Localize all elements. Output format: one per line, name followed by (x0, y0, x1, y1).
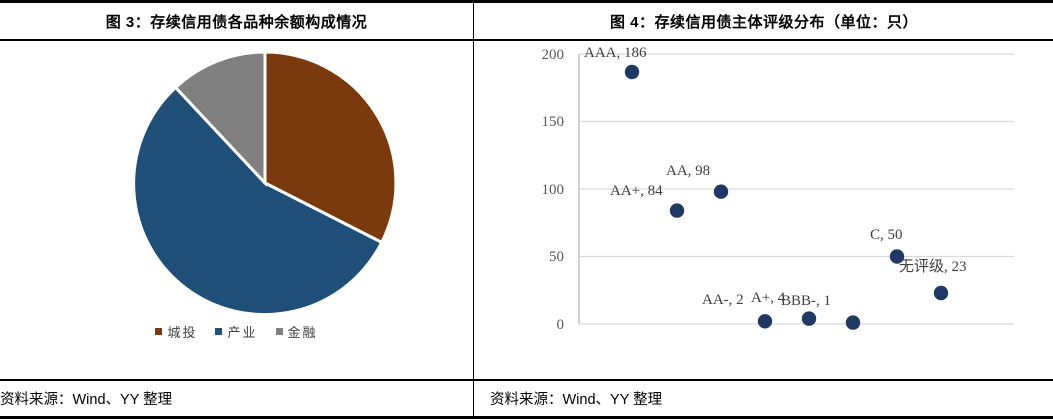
legend-swatch-chengtou (155, 328, 162, 335)
scatter-points (625, 65, 948, 330)
point-AA-plus (670, 204, 684, 218)
figure-body-row: 城投 产业 金融 (0, 40, 1053, 380)
point-no-rating (934, 286, 948, 300)
figure-source-row: 资料来源：Wind、YY 整理 资料来源：Wind、YY 整理 (0, 380, 1053, 418)
right-source-note: 资料来源：Wind、YY 整理 (474, 380, 1053, 418)
y-tick-100: 100 (512, 183, 564, 198)
left-source-note: 资料来源：Wind、YY 整理 (0, 380, 474, 418)
scatter-svg (474, 41, 1053, 359)
legend-label-chengtou: 城投 (167, 322, 197, 341)
data-label-AA-minus: AA-, 2 (702, 293, 744, 308)
data-label-no-rating: 无评级, 23 (899, 260, 967, 275)
pie-chart: 城投 产业 金融 (0, 41, 473, 379)
data-label-C: C, 50 (870, 228, 903, 243)
legend-swatch-jinrong (276, 328, 283, 335)
pie-svg (121, 47, 409, 319)
legend-item-chengtou[interactable]: 城投 (155, 322, 197, 341)
figure-table: 图 3：存续信用债各品种余额构成情况 图 4：存续信用债主体评级分布（单位：只） (0, 0, 1053, 419)
y-tick-150: 150 (512, 115, 564, 130)
figure-title-row: 图 3：存续信用债各品种余额构成情况 图 4：存续信用债主体评级分布（单位：只） (0, 2, 1053, 41)
y-tick-200: 200 (512, 48, 564, 63)
left-figure-title: 图 3：存续信用债各品种余额构成情况 (0, 2, 474, 41)
legend-swatch-chanye (215, 328, 222, 335)
legend-item-chanye[interactable]: 产业 (215, 322, 257, 341)
point-AA-minus (758, 314, 772, 328)
right-figure-body: 200 150 100 50 0 AAA, 186 AA+, 84 AA, 98… (474, 40, 1053, 380)
figure-pair-container: 图 3：存续信用债各品种余额构成情况 图 4：存续信用债主体评级分布（单位：只） (0, 0, 1053, 419)
data-label-AA-plus: AA+, 84 (610, 184, 663, 199)
data-label-AA: AA, 98 (666, 164, 710, 179)
y-tick-50: 50 (512, 250, 564, 265)
legend-label-jinrong: 金融 (288, 322, 318, 341)
point-A-plus (802, 312, 816, 326)
point-AA (714, 185, 728, 199)
y-tick-0: 0 (512, 318, 564, 333)
pie-legend: 城投 产业 金融 (0, 322, 473, 341)
scatter-chart: 200 150 100 50 0 AAA, 186 AA+, 84 AA, 98… (474, 41, 1053, 379)
point-AAA (625, 65, 639, 79)
data-label-BBB-minus: BBB-, 1 (781, 294, 831, 309)
legend-label-chanye: 产业 (227, 322, 257, 341)
left-figure-body: 城投 产业 金融 (0, 40, 474, 380)
right-figure-title: 图 4：存续信用债主体评级分布（单位：只） (474, 2, 1053, 41)
legend-item-jinrong[interactable]: 金融 (276, 322, 318, 341)
pie-graphic (121, 47, 409, 319)
data-label-AAA: AAA, 186 (584, 46, 647, 61)
point-BBB-minus (846, 316, 860, 330)
